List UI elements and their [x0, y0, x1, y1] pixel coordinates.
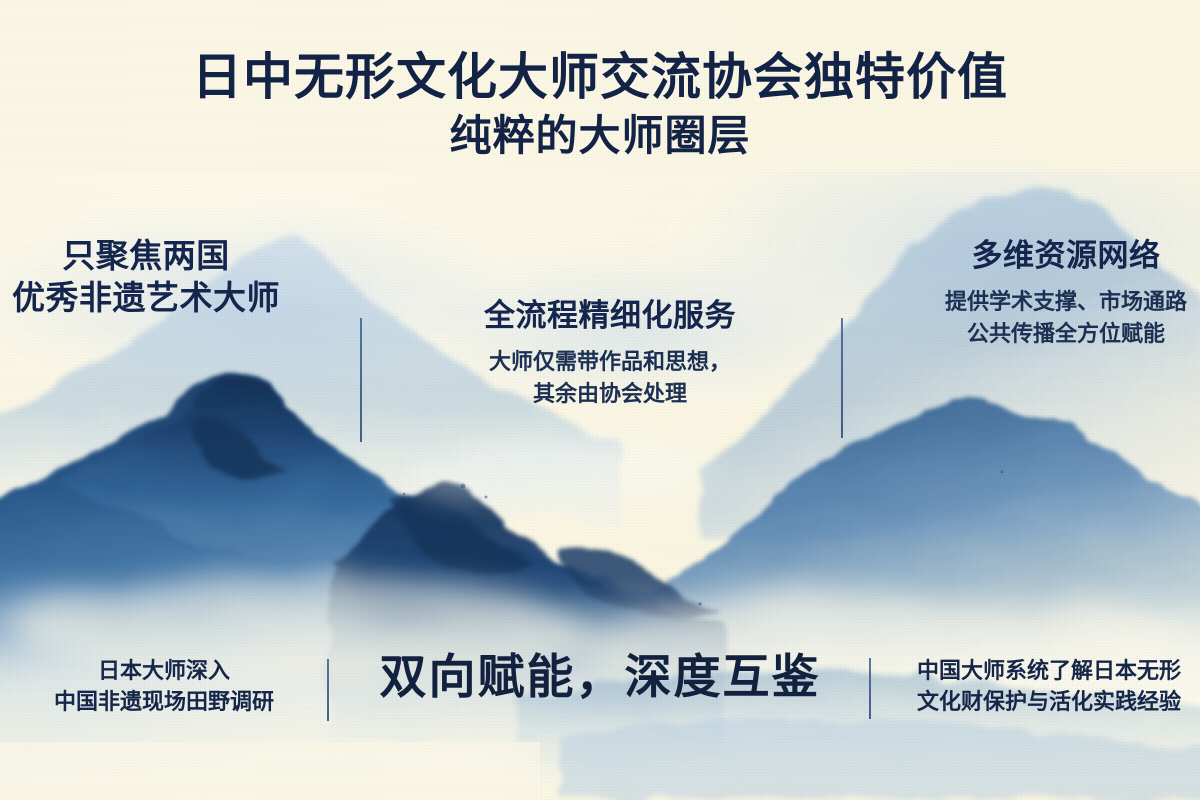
paper-grain-overlay: [0, 0, 1200, 800]
poster-canvas: 日中无形文化大师交流协会独特价值 纯粹的大师圈层 只聚焦两国优秀非遗艺术大师 全…: [0, 0, 1200, 800]
